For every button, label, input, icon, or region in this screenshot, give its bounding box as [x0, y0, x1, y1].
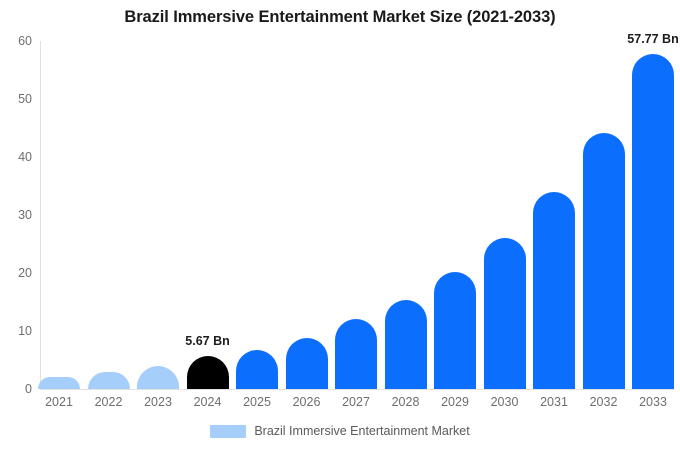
data-label-2033: 57.77 Bn [627, 32, 678, 46]
y-axis-tick-label: 20 [18, 266, 32, 280]
bar-2033[interactable] [632, 54, 674, 389]
x-axis-tick-label: 2022 [95, 395, 123, 409]
legend-label[interactable]: Brazil Immersive Entertainment Market [254, 424, 469, 438]
bar-2027[interactable] [335, 319, 377, 389]
bar-2026[interactable] [286, 338, 328, 389]
plot-area: 0102030405060202120222023202420252026202… [40, 41, 680, 389]
y-axis-tick-label: 50 [18, 92, 32, 106]
bar-2028[interactable] [385, 300, 427, 389]
bar-2029[interactable] [434, 272, 476, 389]
y-axis-tick-label: 30 [18, 208, 32, 222]
bar-2025[interactable] [236, 350, 278, 389]
bar-2024[interactable] [187, 356, 229, 389]
bar-2023[interactable] [137, 366, 179, 389]
x-axis-tick-label: 2028 [392, 395, 420, 409]
bar-2022[interactable] [88, 372, 130, 389]
bar-2030[interactable] [484, 238, 526, 389]
bar-chart: Brazil Immersive Entertainment Market Si… [0, 0, 680, 450]
x-axis-tick-label: 2024 [194, 395, 222, 409]
y-axis-line [40, 41, 41, 389]
x-axis-line [40, 389, 675, 390]
bar-2031[interactable] [533, 192, 575, 389]
x-axis-tick-label: 2027 [342, 395, 370, 409]
x-axis-tick-label: 2021 [45, 395, 73, 409]
chart-title: Brazil Immersive Entertainment Market Si… [0, 8, 680, 27]
x-axis-tick-label: 2025 [243, 395, 271, 409]
x-axis-tick-label: 2033 [639, 395, 667, 409]
chart-legend: Brazil Immersive Entertainment Market [0, 424, 680, 438]
x-axis-tick-label: 2029 [441, 395, 469, 409]
y-axis-tick-label: 10 [18, 324, 32, 338]
y-axis-tick-label: 60 [18, 34, 32, 48]
bar-2032[interactable] [583, 133, 625, 389]
x-axis-tick-label: 2023 [144, 395, 172, 409]
y-axis-tick-label: 0 [25, 382, 32, 396]
x-axis-tick-label: 2031 [540, 395, 568, 409]
y-axis-tick-label: 40 [18, 150, 32, 164]
legend-swatch [210, 425, 246, 438]
x-axis-tick-label: 2026 [293, 395, 321, 409]
x-axis-tick-label: 2032 [590, 395, 618, 409]
x-axis-tick-label: 2030 [491, 395, 519, 409]
data-label-2024: 5.67 Bn [185, 334, 229, 348]
bar-2021[interactable] [38, 377, 80, 389]
